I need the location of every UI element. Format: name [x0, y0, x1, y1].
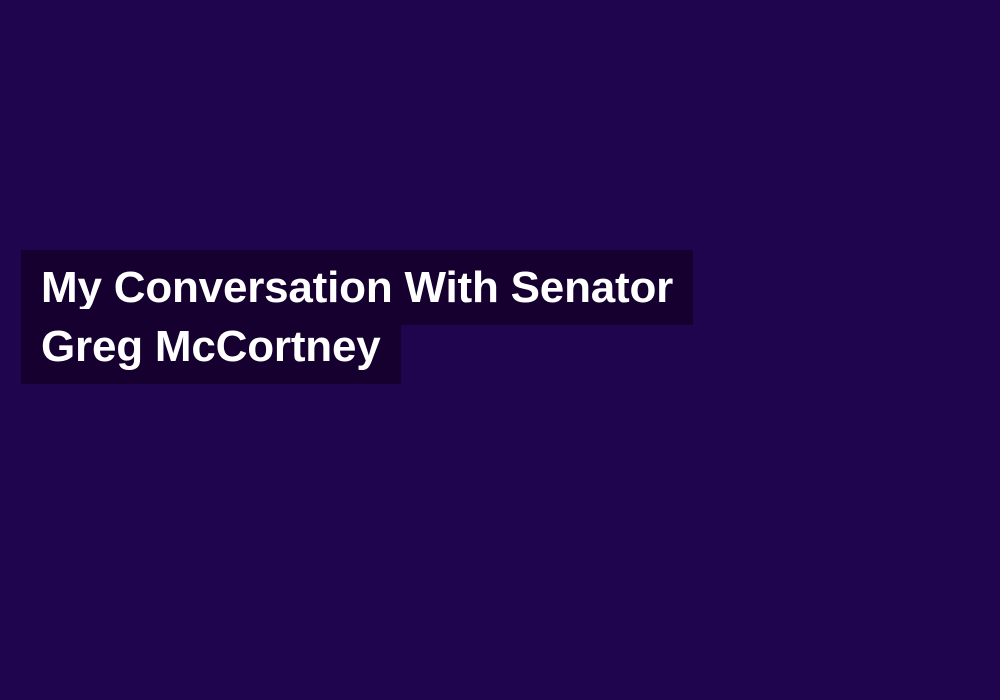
headline-block: My Conversation With Senator Greg McCort…	[21, 258, 781, 376]
page-title-text: My Conversation With Senator Greg McCort…	[21, 250, 693, 384]
page-title: My Conversation With Senator Greg McCort…	[21, 258, 747, 376]
title-card: My Conversation With Senator Greg McCort…	[0, 0, 1000, 700]
